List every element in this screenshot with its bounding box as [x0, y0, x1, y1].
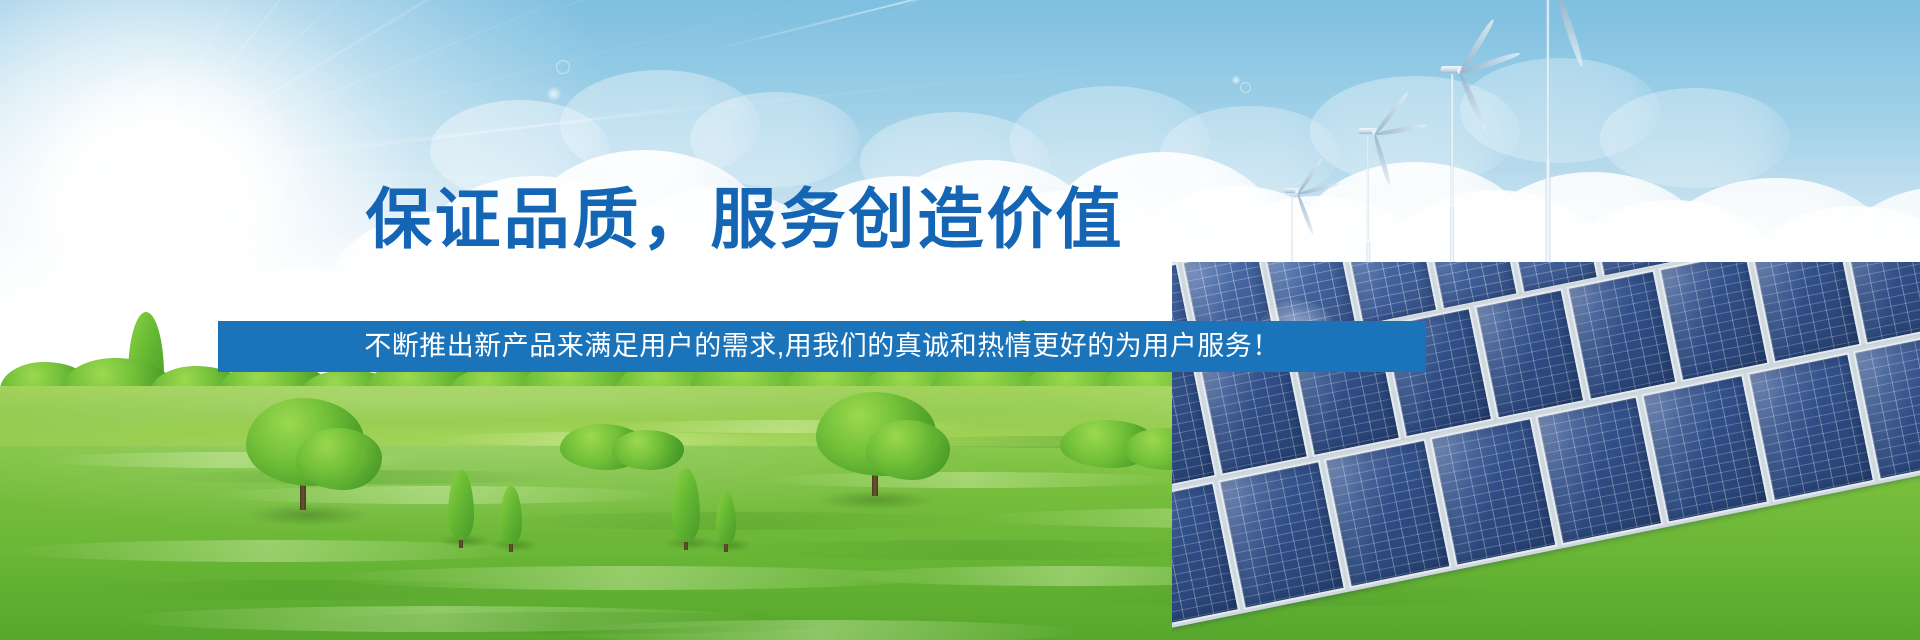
shrub — [612, 430, 684, 470]
banner-headline: 保证品质，服务创造价值 — [0, 186, 1490, 252]
tree-canopy — [296, 428, 382, 490]
banner-subtitle-text: 不断推出新产品来满足用户的需求,用我们的真诚和热情更好的为用户服务！ — [364, 333, 1280, 360]
tree-canopy — [866, 420, 950, 480]
hero-banner: 保证品质，服务创造价值 不断推出新产品来满足用户的需求,用我们的真诚和热情更好的… — [0, 0, 1920, 640]
tree-shadow — [248, 504, 368, 526]
banner-subtitle-bar: 不断推出新产品来满足用户的需求,用我们的真诚和热情更好的为用户服务！ — [218, 321, 1426, 372]
shrub — [1178, 436, 1248, 474]
